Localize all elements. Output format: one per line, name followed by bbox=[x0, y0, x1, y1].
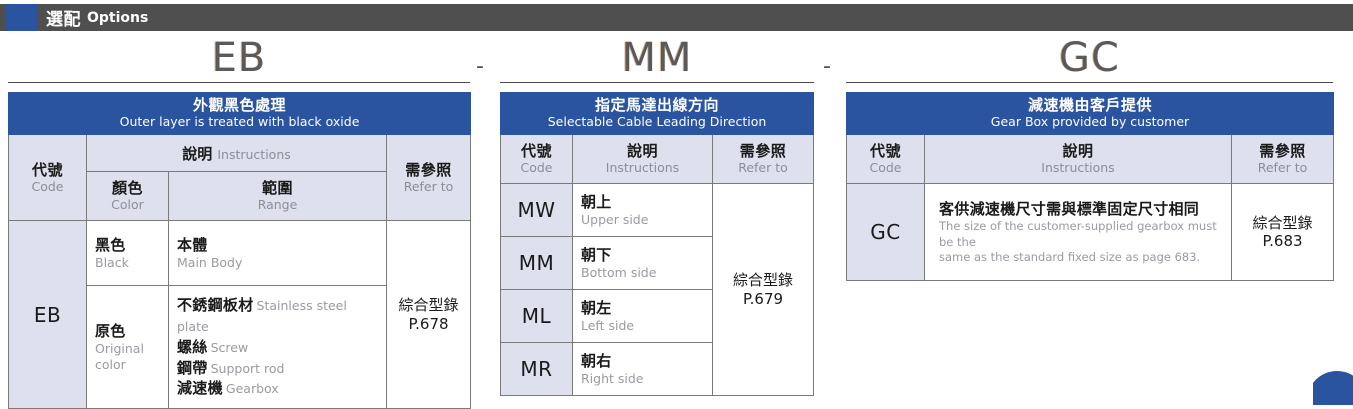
eb-col-refer: 需參照 Refer to bbox=[387, 135, 471, 221]
banner-accent-block bbox=[6, 4, 38, 31]
gc-col-refer-en: Refer to bbox=[1234, 160, 1331, 175]
mm-row2-code: ML bbox=[501, 290, 573, 343]
gc-col-code: 代號 Code bbox=[847, 135, 925, 184]
mm-col-code-cn: 代號 bbox=[503, 143, 570, 160]
page-corner-mark-icon bbox=[1313, 371, 1353, 405]
code-title-eb: EB bbox=[8, 38, 470, 78]
eb-col-color-cn: 顏色 bbox=[89, 180, 166, 197]
gc-refer-line2: P.683 bbox=[1232, 232, 1333, 251]
eb-row1-range-line-1: 螺絲Screw bbox=[177, 337, 378, 358]
mm-row1-code: MM bbox=[501, 237, 573, 290]
gc-group-header: 減速機由客戶提供 Gear Box provided by customer bbox=[847, 93, 1334, 135]
eb-col-code-cn: 代號 bbox=[11, 162, 84, 179]
mm-col-code-en: Code bbox=[503, 160, 570, 175]
table-row: GC 客供減速機尺寸需與標準固定尺寸相同 The size of the cus… bbox=[847, 184, 1334, 281]
gc-col-refer: 需參照 Refer to bbox=[1232, 135, 1334, 184]
eb-code-value: EB bbox=[9, 221, 87, 409]
mm-col-refer-en: Refer to bbox=[715, 160, 811, 175]
gc-col-instructions-cn: 說明 bbox=[927, 143, 1229, 160]
eb-col-range: 範圍 Range bbox=[169, 172, 387, 221]
banner-title: 選配 Options bbox=[46, 4, 148, 31]
eb-col-range-cn: 範圍 bbox=[171, 180, 384, 197]
eb-row1-color-en: Original color bbox=[95, 341, 160, 372]
eb-row1-range-line-2-en: Support rod bbox=[211, 361, 285, 376]
eb-refer-line2: P.678 bbox=[387, 315, 470, 334]
eb-col-instructions-cn: 說明 bbox=[182, 145, 212, 163]
gc-refer-line1: 綜合型錄 bbox=[1232, 214, 1333, 233]
table-header-row: 減速機由客戶提供 Gear Box provided by customer bbox=[847, 93, 1334, 135]
banner-title-en: Options bbox=[87, 10, 148, 26]
code-rule-eb bbox=[8, 82, 470, 83]
options-banner-bar bbox=[0, 4, 1353, 31]
mm-row3-desc-en: Right side bbox=[581, 371, 704, 387]
eb-row0-color-cn: 黑色 bbox=[95, 236, 160, 255]
eb-row1-range-line-1-cn: 螺絲 bbox=[177, 338, 208, 356]
table-row: MW 朝上 Upper side 綜合型錄 P.679 bbox=[501, 184, 814, 237]
eb-row0-color-en: Black bbox=[95, 255, 160, 271]
gc-desc: 客供減速機尺寸需與標準固定尺寸相同 The size of the custom… bbox=[925, 184, 1232, 281]
eb-group-header: 外觀黑色處理 Outer layer is treated with black… bbox=[9, 93, 471, 135]
gc-group-header-cn: 減速機由客戶提供 bbox=[849, 97, 1331, 114]
gc-desc-cn: 客供減速機尺寸需與標準固定尺寸相同 bbox=[939, 199, 1217, 219]
eb-col-refer-cn: 需參照 bbox=[389, 162, 468, 179]
mm-refer-line2: P.679 bbox=[713, 290, 813, 309]
banner-title-cn: 選配 bbox=[46, 5, 81, 30]
mm-col-code: 代號 Code bbox=[501, 135, 573, 184]
table-subheader-row: 代號 Code 說明 Instructions 需參照 Refer to bbox=[501, 135, 814, 184]
eb-row1-range: 不銹鋼板材Stainless steel plate 螺絲Screw 鋼帶Sup… bbox=[169, 286, 387, 409]
gc-col-code-cn: 代號 bbox=[849, 143, 922, 160]
eb-row0-range-cn: 本體 bbox=[177, 236, 378, 255]
gc-col-code-en: Code bbox=[849, 160, 922, 175]
mm-col-instructions-en: Instructions bbox=[575, 160, 710, 175]
eb-row1-range-line-0: 不銹鋼板材Stainless steel plate bbox=[177, 295, 378, 337]
eb-row1-color: 原色 Original color bbox=[87, 286, 169, 409]
eb-col-range-en: Range bbox=[171, 197, 384, 212]
mm-row0-desc: 朝上 Upper side bbox=[573, 184, 713, 237]
mm-row2-desc-en: Left side bbox=[581, 318, 704, 334]
mm-row1-desc-cn: 朝下 bbox=[581, 246, 704, 265]
options-table-gc: 減速機由客戶提供 Gear Box provided by customer 代… bbox=[846, 92, 1334, 281]
mm-group-header-cn: 指定馬達出線方向 bbox=[503, 97, 811, 114]
eb-row1-range-line-1-en: Screw bbox=[211, 340, 249, 355]
table-row: EB 黑色 Black 本體 Main Body 綜合型錄 P.678 bbox=[9, 221, 471, 286]
separator-dash-2: - bbox=[823, 56, 831, 78]
eb-refer-line1: 綜合型錄 bbox=[387, 296, 470, 315]
eb-group-header-cn: 外觀黑色處理 bbox=[11, 97, 468, 114]
eb-row0-color: 黑色 Black bbox=[87, 221, 169, 286]
eb-refer-value: 綜合型錄 P.678 bbox=[387, 221, 471, 409]
eb-row0-range-en: Main Body bbox=[177, 255, 378, 271]
mm-row2-desc-cn: 朝左 bbox=[581, 299, 704, 318]
gc-code-value: GC bbox=[847, 184, 925, 281]
mm-group-header-en: Selectable Cable Leading Direction bbox=[503, 114, 811, 129]
gc-refer-value: 綜合型錄 P.683 bbox=[1232, 184, 1334, 281]
gc-col-instructions: 說明 Instructions bbox=[925, 135, 1232, 184]
eb-row1-range-line-3-cn: 減速機 bbox=[177, 379, 223, 397]
mm-row3-desc-cn: 朝右 bbox=[581, 352, 704, 371]
mm-row1-desc-en: Bottom side bbox=[581, 265, 704, 281]
code-title-gc: GC bbox=[846, 38, 1333, 78]
eb-row1-range-line-0-cn: 不銹鋼板材 bbox=[177, 296, 254, 314]
eb-col-refer-en: Refer to bbox=[389, 179, 468, 194]
eb-row1-range-line-2: 鋼帶Support rod bbox=[177, 358, 378, 379]
gc-desc-en-line2: same as the standard fixed size as page … bbox=[939, 250, 1217, 266]
options-table-mm: 指定馬達出線方向 Selectable Cable Leading Direct… bbox=[500, 92, 814, 396]
mm-row2-desc: 朝左 Left side bbox=[573, 290, 713, 343]
mm-row0-desc-en: Upper side bbox=[581, 212, 704, 228]
mm-row3-desc: 朝右 Right side bbox=[573, 343, 713, 396]
gc-group-header-en: Gear Box provided by customer bbox=[849, 114, 1331, 129]
mm-row1-desc: 朝下 Bottom side bbox=[573, 237, 713, 290]
eb-col-instructions: 說明 Instructions bbox=[87, 135, 387, 172]
mm-refer-value: 綜合型錄 P.679 bbox=[713, 184, 814, 396]
gc-col-refer-cn: 需參照 bbox=[1234, 143, 1331, 160]
table-subheader-row-1: 代號 Code 說明 Instructions 需參照 Refer to bbox=[9, 135, 471, 172]
code-rule-gc bbox=[846, 82, 1333, 83]
gc-desc-en-line1: The size of the customer-supplied gearbo… bbox=[939, 219, 1217, 250]
mm-col-refer: 需參照 Refer to bbox=[713, 135, 814, 184]
mm-row3-code: MR bbox=[501, 343, 573, 396]
eb-row0-range: 本體 Main Body bbox=[169, 221, 387, 286]
eb-col-color: 顏色 Color bbox=[87, 172, 169, 221]
mm-row0-code: MW bbox=[501, 184, 573, 237]
eb-col-color-en: Color bbox=[89, 197, 166, 212]
eb-row1-range-line-3: 減速機Gearbox bbox=[177, 378, 378, 399]
eb-col-code: 代號 Code bbox=[9, 135, 87, 221]
mm-refer-line1: 綜合型錄 bbox=[713, 271, 813, 290]
mm-group-header: 指定馬達出線方向 Selectable Cable Leading Direct… bbox=[501, 93, 814, 135]
table-subheader-row: 代號 Code 說明 Instructions 需參照 Refer to bbox=[847, 135, 1334, 184]
eb-col-instructions-en: Instructions bbox=[217, 147, 290, 162]
eb-row1-color-cn: 原色 bbox=[95, 322, 160, 341]
mm-col-instructions: 說明 Instructions bbox=[573, 135, 713, 184]
table-header-row: 外觀黑色處理 Outer layer is treated with black… bbox=[9, 93, 471, 135]
eb-row1-range-line-3-en: Gearbox bbox=[226, 381, 279, 396]
eb-group-header-en: Outer layer is treated with black oxide bbox=[11, 114, 468, 129]
options-table-eb: 外觀黑色處理 Outer layer is treated with black… bbox=[8, 92, 471, 409]
mm-col-instructions-cn: 說明 bbox=[575, 143, 710, 160]
eb-row1-range-line-2-cn: 鋼帶 bbox=[177, 359, 208, 377]
gc-col-instructions-en: Instructions bbox=[927, 160, 1229, 175]
eb-col-code-en: Code bbox=[11, 179, 84, 194]
mm-col-refer-cn: 需參照 bbox=[715, 143, 811, 160]
separator-dash-1: - bbox=[476, 56, 484, 78]
mm-row0-desc-cn: 朝上 bbox=[581, 193, 704, 212]
table-header-row: 指定馬達出線方向 Selectable Cable Leading Direct… bbox=[501, 93, 814, 135]
code-title-mm: MM bbox=[500, 38, 814, 78]
code-rule-mm bbox=[500, 82, 814, 83]
